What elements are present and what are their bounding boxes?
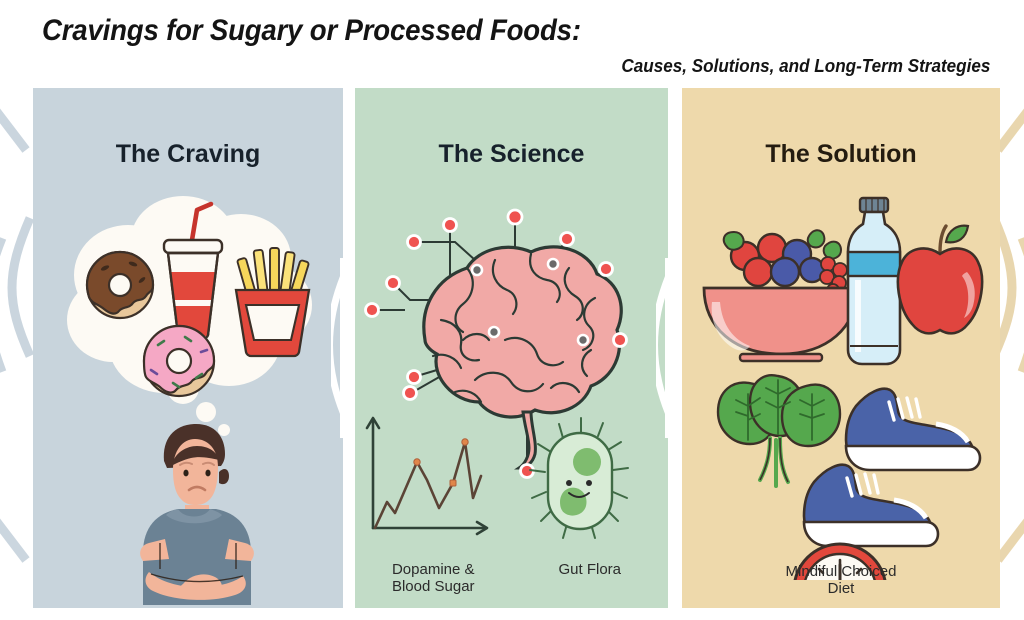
chocolate-donut-icon [87, 252, 153, 318]
caption-dopamine-line2: Blood Sugar [355, 578, 512, 596]
science-captions: Dopamine & Blood Sugar Gut Flora [355, 561, 668, 596]
caption-solution-line1: Mindiful Choiced [682, 563, 1000, 581]
spinach-icon [718, 375, 840, 486]
sneaker-front [804, 465, 938, 546]
page-subtitle: Causes, Solutions, and Long-Term Strateg… [621, 56, 990, 77]
sneaker-back [846, 389, 980, 470]
sad-person-icon [140, 424, 254, 605]
panel-connector-1 [331, 88, 355, 608]
bacteria-icon [530, 418, 628, 538]
caption-gut-flora: Gut Flora [512, 561, 669, 596]
left-bracket-decoration [0, 88, 36, 608]
infographic-canvas: Cravings for Sugary or Processed Foods: … [0, 0, 1024, 620]
page-title: Cravings for Sugary or Processed Foods: [42, 14, 581, 48]
panel-craving-title: The Craving [33, 140, 343, 169]
panel-craving[interactable]: The Craving [33, 88, 343, 608]
solution-caption: Mindiful Choiced Diet [682, 563, 1000, 598]
solution-illustration [682, 180, 1000, 580]
sprinkled-donut-icon [144, 326, 214, 396]
panel-solution[interactable]: The Solution [682, 88, 1000, 608]
apple-icon [898, 226, 982, 334]
caption-gut-flora-line1: Gut Flora [512, 561, 669, 579]
craving-illustration [33, 180, 343, 605]
caption-dopamine: Dopamine & Blood Sugar [355, 561, 512, 596]
panel-science[interactable]: The Science [355, 88, 668, 608]
caption-solution-line2: Diet [682, 580, 1000, 598]
panel-science-title: The Science [355, 140, 668, 169]
panel-solution-title: The Solution [682, 140, 1000, 169]
caption-dopamine-line1: Dopamine & [355, 561, 512, 579]
panel-connector-2 [656, 88, 680, 608]
line-chart-icon [367, 418, 487, 534]
water-bottle-icon [848, 198, 900, 364]
berry-bowl-icon [704, 230, 857, 361]
science-illustration [355, 180, 668, 580]
french-fries-icon [236, 248, 309, 356]
